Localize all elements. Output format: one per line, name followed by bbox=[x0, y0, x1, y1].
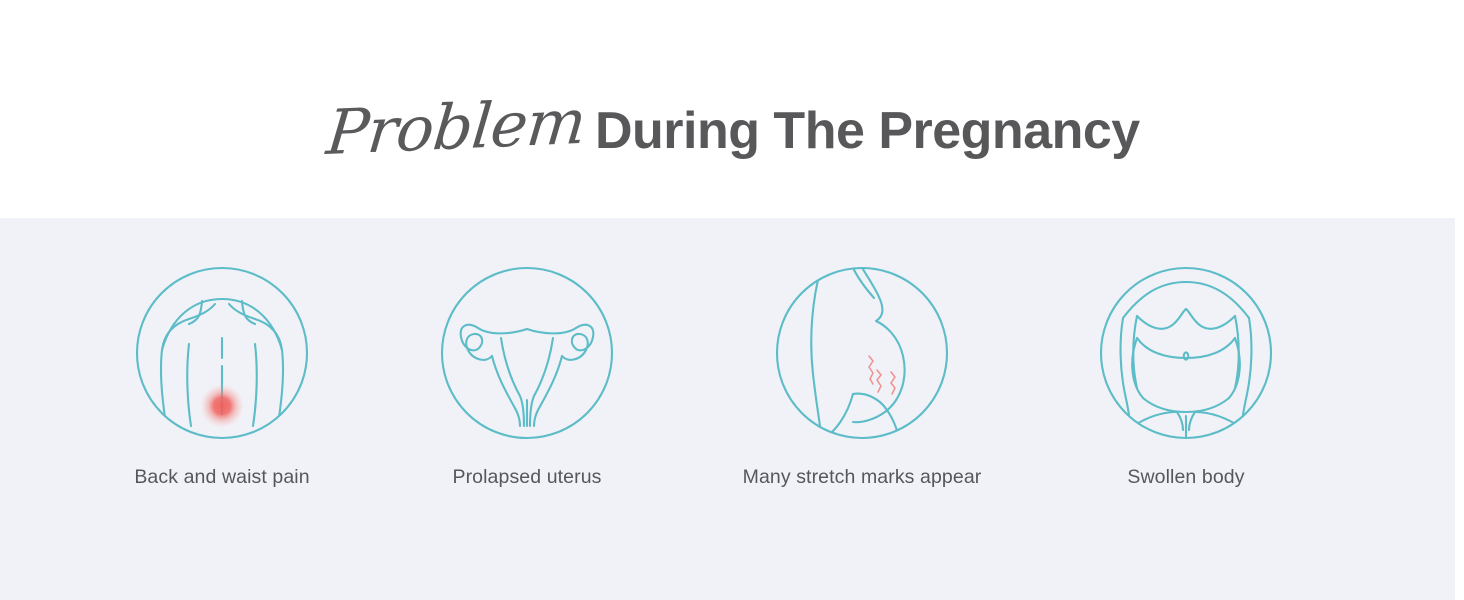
uterus-icon bbox=[440, 266, 614, 440]
problem-label: Many stretch marks appear bbox=[712, 466, 1012, 489]
page-title-bold-text: During The Pregnancy bbox=[595, 105, 1140, 157]
pain-spot bbox=[200, 384, 244, 428]
problem-item-back-pain[interactable]: Back and waist pain bbox=[72, 266, 372, 489]
problems-list: Back and waist pain bbox=[0, 218, 1455, 600]
back-pain-icon bbox=[135, 266, 309, 440]
pregnancy-problems-infographic: ProblemDuring The Pregnancy bbox=[0, 0, 1464, 600]
page-title-script-word: Problem bbox=[324, 90, 602, 164]
problem-item-swollen-body[interactable]: Swollen body bbox=[1036, 266, 1336, 489]
right-white-strip bbox=[1455, 218, 1464, 600]
stretch-marks-belly-icon bbox=[775, 266, 949, 440]
stretch-marks bbox=[869, 356, 895, 394]
problem-item-stretch-marks[interactable]: Many stretch marks appear bbox=[712, 266, 1012, 489]
problem-label: Back and waist pain bbox=[72, 466, 372, 489]
header-band: ProblemDuring The Pregnancy bbox=[0, 0, 1464, 218]
problem-label: Swollen body bbox=[1036, 466, 1336, 489]
problem-item-prolapsed-uterus[interactable]: Prolapsed uterus bbox=[377, 266, 677, 489]
problem-label: Prolapsed uterus bbox=[377, 466, 677, 489]
swollen-body-icon bbox=[1099, 266, 1273, 440]
page-title: ProblemDuring The Pregnancy bbox=[0, 96, 1464, 158]
